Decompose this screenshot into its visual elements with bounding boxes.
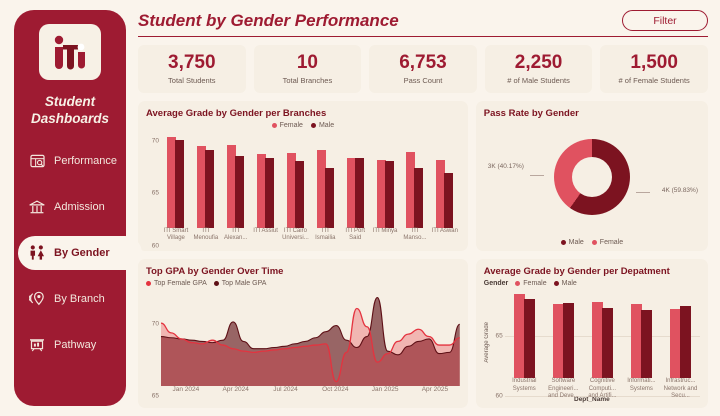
- kpi-card-female-students: 1,500 # of Female Students: [600, 45, 708, 93]
- bar-male[interactable]: [265, 158, 274, 227]
- donut-ring[interactable]: [554, 139, 630, 215]
- x-tick-label: ITI Ismailia: [310, 228, 340, 246]
- sidebar-item-label: By Gender: [54, 247, 110, 259]
- legend-item-top-female-gpa[interactable]: Top Female GPA: [146, 280, 207, 287]
- legend-label: Male: [319, 122, 334, 129]
- bar-male[interactable]: [524, 299, 535, 378]
- panel-passrate-chart: Pass Rate by Gender 3K (40.17%) 4K (59.8…: [476, 101, 708, 251]
- legend-swatch-male: [214, 281, 219, 286]
- y-tick-label: 60: [496, 393, 503, 400]
- legend-swatch-male: [554, 281, 559, 286]
- legend-item-female[interactable]: Female: [515, 280, 546, 287]
- x-tick-label: Cognitive Computi... and Artifi...: [583, 378, 622, 396]
- donut-plot-area: 3K (40.17%) 4K (59.83%): [484, 119, 700, 236]
- kpi-value: 6,753: [399, 53, 447, 73]
- donut-label-male: 4K (59.83%): [662, 187, 698, 194]
- bar-male[interactable]: [235, 156, 244, 228]
- map-pin-icon: [27, 290, 47, 308]
- y-axis: 7065: [146, 289, 161, 404]
- kpi-value: 1,500: [630, 53, 678, 73]
- sidebar-item-by-gender[interactable]: By Gender: [14, 236, 126, 270]
- kpi-card-total-students: 3,750 Total Students: [138, 45, 246, 93]
- page-title: Student by Gender Performance: [138, 11, 399, 31]
- legend-label: Female: [523, 280, 546, 287]
- x-axis-labels: ITI Smart VillageITI MenoufiaITI Alexan.…: [161, 228, 460, 246]
- legend-label: Top Female GPA: [154, 280, 207, 287]
- kpi-value: 10: [297, 53, 318, 73]
- bar-male[interactable]: [563, 303, 574, 378]
- brand-line-2: Dashboards: [31, 111, 109, 128]
- legend-swatch-female: [272, 123, 277, 128]
- y-tick-label: 65: [496, 333, 503, 340]
- legend-label: Female: [280, 122, 303, 129]
- kpi-value: 3,750: [168, 53, 216, 73]
- legend-item-female[interactable]: Female: [272, 122, 303, 129]
- legend-item-male[interactable]: Male: [561, 239, 584, 246]
- branches-plot-area: 706560 ITI Smart VillageITI MenoufiaITI …: [146, 131, 460, 246]
- bar-group[interactable]: [583, 289, 622, 379]
- x-tick-label: ITI Manso...: [400, 228, 430, 246]
- x-tick-label: ITI Port Said: [340, 228, 370, 246]
- bar-group[interactable]: [191, 131, 221, 228]
- main-content: Student by Gender Performance Filter 3,7…: [126, 0, 720, 416]
- panel-department-chart: Average Grade by Gender per Depatment Ge…: [476, 259, 708, 409]
- legend-label: Top Male GPA: [222, 280, 267, 287]
- bar-male[interactable]: [444, 173, 453, 227]
- iti-logo: [39, 24, 101, 80]
- chart-title: Pass Rate by Gender: [484, 108, 700, 119]
- x-tick-label: ITI Alexan...: [221, 228, 251, 246]
- male-female-icon: [27, 244, 47, 262]
- legend-swatch-male: [311, 123, 316, 128]
- x-tick-label: Oct 2024: [310, 386, 360, 403]
- bar-group[interactable]: [400, 131, 430, 228]
- kpi-label: # of Female Students: [619, 76, 690, 85]
- kpi-value: 2,250: [515, 53, 563, 73]
- chart-title: Average Grade by Gender per Depatment: [484, 266, 700, 277]
- legend-swatch-female: [146, 281, 151, 286]
- dashboard-root: Student Dashboards Performance Admission: [0, 0, 720, 416]
- donut-leader-right: [636, 192, 650, 193]
- sidebar-item-label: By Branch: [54, 293, 105, 305]
- chart-legend: Female Male: [146, 122, 460, 129]
- sidebar-item-label: Performance: [54, 155, 117, 167]
- y-tick-label: 65: [152, 190, 159, 197]
- bar-male[interactable]: [641, 310, 652, 378]
- sidebar: Student Dashboards Performance Admission: [14, 10, 126, 406]
- sidebar-item-pathway[interactable]: Pathway: [14, 328, 126, 362]
- school-building-icon: [27, 198, 47, 216]
- x-tick-label: Jan 2025: [360, 386, 410, 403]
- kpi-label: Pass Count: [404, 76, 443, 85]
- bar-group[interactable]: [310, 131, 340, 228]
- x-tick-label: Informati... Systems: [622, 378, 661, 396]
- bar-male[interactable]: [205, 150, 214, 227]
- donut-leader-left: [530, 175, 544, 176]
- legend-label: Female: [600, 239, 623, 246]
- chart-title: Average Grade by Gender per Branches: [146, 108, 460, 119]
- donut-label-female: 3K (40.17%): [488, 163, 524, 170]
- bar-group[interactable]: [340, 131, 370, 228]
- x-tick-label: ITI Minya: [370, 228, 400, 246]
- y-tick-label: 70: [152, 138, 159, 145]
- plot: ITI Smart VillageITI MenoufiaITI Alexan.…: [161, 131, 460, 246]
- bar-male[interactable]: [325, 168, 334, 228]
- bar-male[interactable]: [680, 306, 691, 378]
- kpi-card-total-branches: 10 Total Branches: [254, 45, 362, 93]
- legend-label: Male: [562, 280, 577, 287]
- x-tick-label: ITI Assiut: [251, 228, 281, 246]
- kpi-row: 3,750 Total Students 10 Total Branches 6…: [138, 45, 708, 93]
- bar-male[interactable]: [175, 140, 184, 228]
- panel-grid: Average Grade by Gender per Branches Fem…: [138, 101, 708, 408]
- topgpa-plot-area: 7065 Jan 2024Apr 2024Jul 2024Oct 2024Jan…: [146, 289, 460, 404]
- bar-group[interactable]: [661, 289, 700, 379]
- plot: Industrial SystemsSoftware Engineeri... …: [505, 289, 700, 397]
- y-axis: 706560: [146, 131, 161, 246]
- x-tick-label: ITI Menoufia: [191, 228, 221, 246]
- y-tick-label: 60: [152, 242, 159, 249]
- bar-male[interactable]: [295, 161, 304, 228]
- brand-line-1: Student: [31, 94, 109, 111]
- kpi-label: # of Male Students: [507, 76, 570, 85]
- bar-group[interactable]: [430, 131, 460, 228]
- bar-group[interactable]: [544, 289, 583, 379]
- kpi-card-male-students: 2,250 # of Male Students: [485, 45, 593, 93]
- x-axis-labels: Industrial SystemsSoftware Engineeri... …: [505, 378, 700, 396]
- legend-item-male[interactable]: Male: [554, 280, 577, 287]
- chart-legend: Top Female GPA Top Male GPA: [146, 280, 460, 287]
- y-tick-label: 70: [152, 321, 159, 328]
- bar-male[interactable]: [385, 161, 394, 228]
- bar-group[interactable]: [370, 131, 400, 228]
- chart-legend: Male Female: [484, 239, 700, 246]
- y-axis: 6560: [490, 289, 505, 397]
- x-tick-label: ITI Aswan: [430, 228, 460, 246]
- legend-item-male[interactable]: Male: [311, 122, 334, 129]
- bar-series: [505, 289, 700, 379]
- chart-title: Top GPA by Gender Over Time: [146, 266, 460, 277]
- sidebar-item-admission[interactable]: Admission: [14, 190, 126, 224]
- bar-series: [161, 131, 460, 228]
- x-tick-label: ITI Cairo Universi...: [281, 228, 311, 246]
- bar-group[interactable]: [161, 131, 191, 228]
- x-tick-label: Industrial Systems: [505, 378, 544, 396]
- legend-item-top-male-gpa[interactable]: Top Male GPA: [214, 280, 267, 287]
- filter-button[interactable]: Filter: [622, 10, 708, 31]
- kpi-card-pass-count: 6,753 Pass Count: [369, 45, 477, 93]
- x-tick-label: Infrastruc... Network and Secu...: [661, 378, 700, 396]
- sidebar-item-by-branch[interactable]: By Branch: [14, 282, 126, 316]
- report-search-icon: [27, 152, 47, 170]
- bar-male[interactable]: [414, 168, 423, 228]
- legend-swatch-male: [561, 240, 566, 245]
- plot: Jan 2024Apr 2024Jul 2024Oct 2024Jan 2025…: [161, 289, 460, 404]
- x-tick-label: Apr 2024: [211, 386, 261, 403]
- kpi-label: Total Students: [168, 76, 216, 85]
- brand-title: Student Dashboards: [31, 94, 109, 128]
- bar-group[interactable]: [251, 131, 281, 228]
- x-tick-label: Software Engineeri... and Deve...: [544, 378, 583, 396]
- department-plot-area: Average Grade 6560 Industrial SystemsSof…: [484, 289, 700, 397]
- sidebar-nav: Performance Admission By Gender By Branc…: [14, 144, 126, 374]
- bar-group[interactable]: [281, 131, 311, 228]
- x-tick-label: Jul 2024: [261, 386, 311, 403]
- sidebar-item-label: Admission: [54, 201, 105, 213]
- bar-male[interactable]: [355, 158, 364, 227]
- bar-group[interactable]: [221, 131, 251, 228]
- x-axis-labels: Jan 2024Apr 2024Jul 2024Oct 2024Jan 2025…: [161, 386, 460, 403]
- x-tick-label: ITI Smart Village: [161, 228, 191, 246]
- x-tick-label: Apr 2025: [410, 386, 460, 403]
- bar-male[interactable]: [602, 308, 613, 378]
- legend-label: Male: [569, 239, 584, 246]
- kpi-label: Total Branches: [283, 76, 333, 85]
- chart-legend: Gender Female Male: [484, 280, 700, 287]
- sidebar-item-performance[interactable]: Performance: [14, 144, 126, 178]
- sidebar-item-label: Pathway: [54, 339, 96, 351]
- bar-group[interactable]: [622, 289, 661, 379]
- legend-title: Gender: [484, 280, 509, 287]
- legend-swatch-female: [592, 240, 597, 245]
- y-tick-label: 65: [152, 392, 159, 399]
- page-header: Student by Gender Performance Filter: [138, 10, 708, 37]
- legend-item-female[interactable]: Female: [592, 239, 623, 246]
- panel-topgpa-chart: Top GPA by Gender Over Time Top Female G…: [138, 259, 468, 409]
- bar-group[interactable]: [505, 289, 544, 379]
- panel-branches-chart: Average Grade by Gender per Branches Fem…: [138, 101, 468, 251]
- right-column: Pass Rate by Gender 3K (40.17%) 4K (59.8…: [476, 101, 708, 408]
- area-series: [161, 289, 460, 387]
- left-column: Average Grade by Gender per Branches Fem…: [138, 101, 468, 408]
- presentation-board-icon: [27, 336, 47, 354]
- legend-swatch-female: [515, 281, 520, 286]
- x-tick-label: Jan 2024: [161, 386, 211, 403]
